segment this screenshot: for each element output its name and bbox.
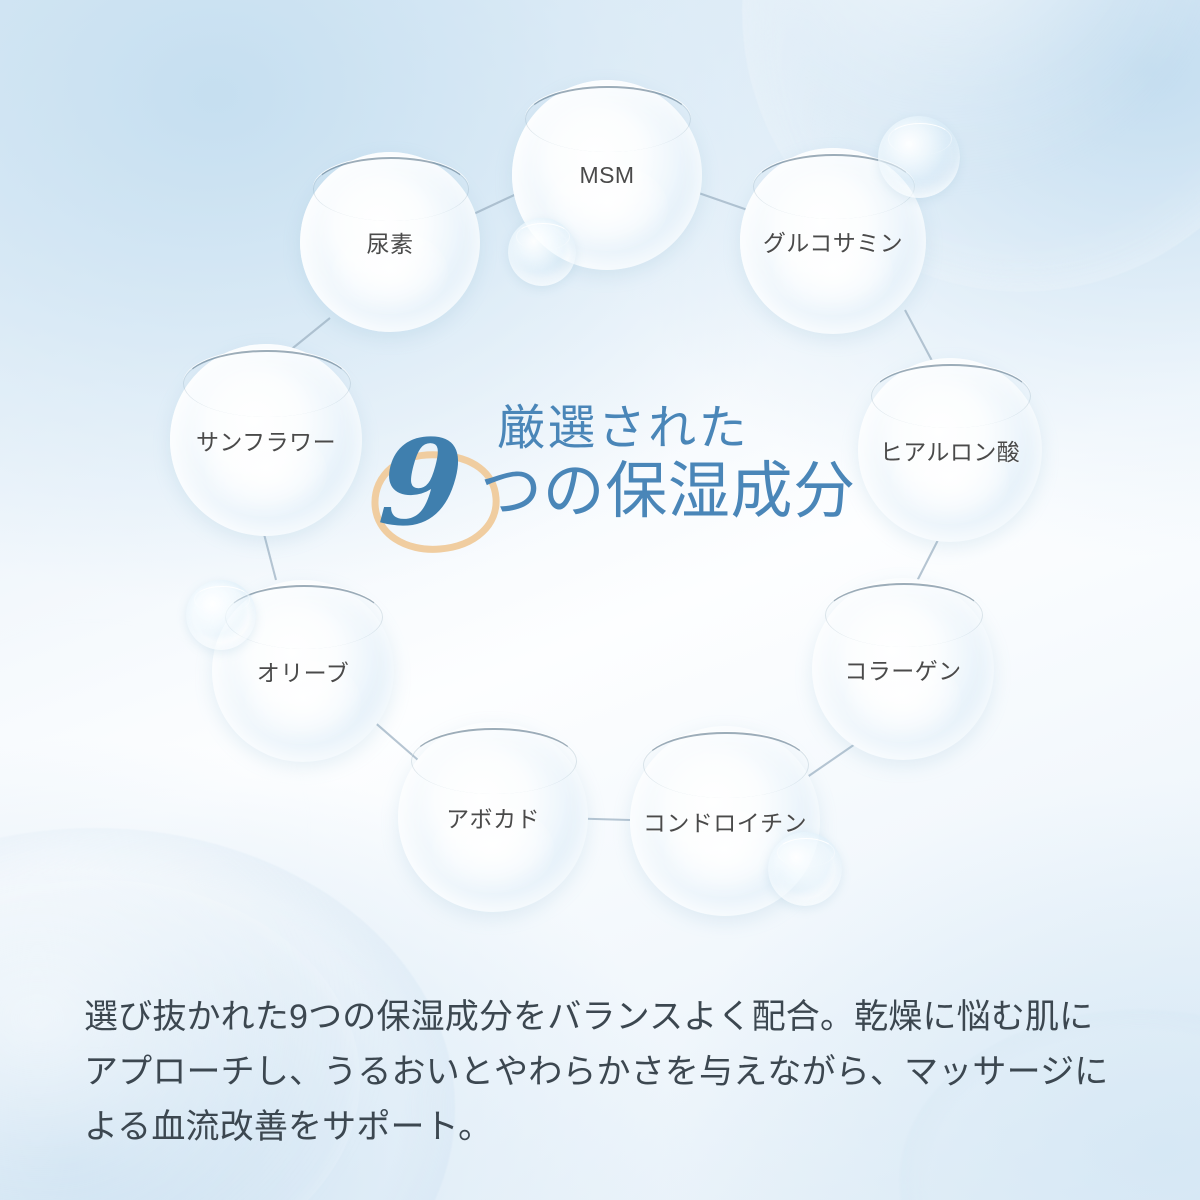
bubble-sunflower[interactable]: サンフラワー: [170, 344, 362, 536]
mini-bubble-chondroitin: [768, 832, 842, 906]
headline-block: 厳選された 9 つの保湿成分: [362, 404, 862, 550]
bubble-label-hyaluronic-acid: ヒアルロン酸: [880, 433, 1021, 467]
bubble-urea[interactable]: 尿素: [300, 152, 480, 332]
bubble-hyaluronic-acid[interactable]: ヒアルロン酸: [858, 358, 1042, 542]
mini-bubble-olive: [186, 580, 256, 650]
bubble-collagen[interactable]: コラーゲン: [812, 578, 994, 760]
bubble-label-glucosamine: グルコサミン: [763, 224, 903, 258]
bubble-label-msm: MSM: [579, 162, 634, 189]
bubble-label-sunflower: サンフラワー: [196, 423, 336, 457]
bubble-label-chondroitin: コンドロイチン: [643, 804, 807, 838]
bubble-label-avocado: アボカド: [446, 800, 540, 834]
link-hyaluronic-collagen: [915, 540, 938, 585]
bubble-label-urea: 尿素: [367, 225, 414, 259]
headline-line-2: 9 つの保湿成分: [362, 454, 862, 550]
link-avocado-olive: [372, 720, 418, 760]
link-olive-sunflower: [264, 534, 276, 580]
mini-bubble-msm: [508, 218, 576, 286]
mini-bubble-glucosamine: [878, 116, 960, 198]
ingredient-infographic: MSM グルコサミン ヒアルロン酸 コラーゲン コンドロイチン アボカド オリー…: [0, 0, 1200, 1200]
bubble-label-olive: オリーブ: [257, 654, 349, 688]
bubble-label-collagen: コラーゲン: [844, 652, 961, 686]
bubble-avocado[interactable]: アボカド: [398, 722, 588, 912]
headline-number-nine: 9: [376, 424, 466, 542]
link-sunflower-urea: [288, 318, 330, 352]
headline-rest: つの保湿成分: [480, 460, 856, 522]
body-paragraph: 選び抜かれた9つの保湿成分をバランスよく配合。乾燥に悩む肌にアプローチし、うるお…: [84, 990, 1116, 1155]
